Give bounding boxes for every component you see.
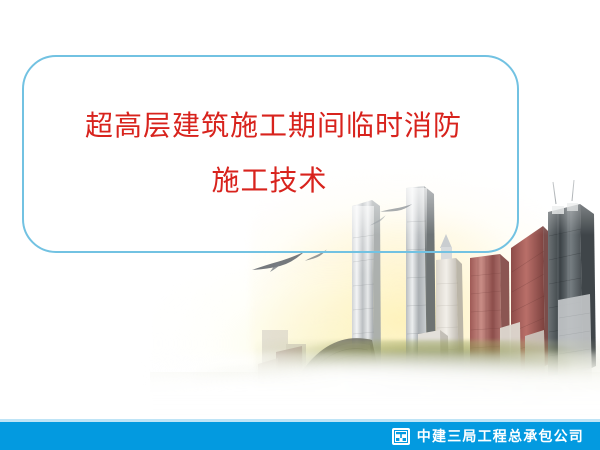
footer-content: 中建三局工程总承包公司 bbox=[392, 426, 600, 446]
page-title-line-1: 超高层建筑施工期间临时消防 bbox=[85, 111, 462, 142]
seagull-icon bbox=[250, 250, 306, 276]
title-block: 超高层建筑施工期间临时消防 施工技术 bbox=[22, 55, 519, 253]
slide-canvas: 超高层建筑施工期间临时消防 施工技术 中建三局工程总承包公司 bbox=[0, 0, 600, 450]
page-title-line-2: 施工技术 bbox=[211, 166, 327, 197]
footer-banner: 中建三局工程总承包公司 bbox=[0, 422, 600, 450]
footer-company-name: 中建三局工程总承包公司 bbox=[417, 426, 584, 446]
company-logo-mark bbox=[394, 430, 408, 443]
company-logo-icon bbox=[392, 428, 410, 445]
